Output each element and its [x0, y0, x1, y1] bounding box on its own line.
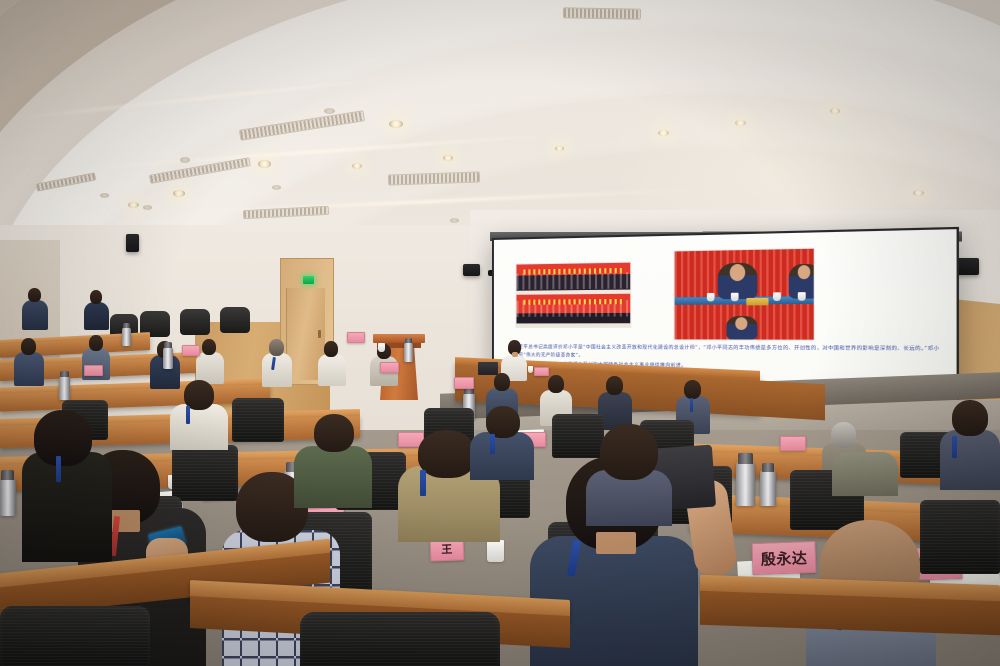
- exit-sign-icon: [303, 276, 314, 284]
- attendee-body: [262, 353, 292, 387]
- slide-speaker-face: [730, 264, 745, 281]
- thermos-cap: [164, 342, 172, 348]
- wall-speaker-center-icon: [463, 264, 480, 276]
- downlight: [389, 120, 403, 128]
- downlight: [352, 163, 362, 169]
- slide-cup-3: [773, 292, 781, 301]
- chair-foreground[interactable]: [300, 612, 500, 666]
- attendee-head: [269, 339, 284, 356]
- downlight: [258, 160, 271, 168]
- downlight: [735, 120, 746, 126]
- slide-photo-hall: [516, 262, 632, 328]
- attendee-head: [418, 430, 476, 478]
- attendee-head: [21, 338, 36, 355]
- conference-hall-photograph: 习近平总书记高度评价邓小平是“中国社会主义改革开放和现代化建设的总设计师”，“邓…: [0, 0, 1000, 666]
- lanyard: [56, 456, 61, 482]
- lanyard: [690, 398, 693, 412]
- chair[interactable]: [172, 445, 238, 501]
- name-placard: [182, 345, 200, 356]
- attendee-body: [14, 352, 44, 386]
- attendee-body: [318, 354, 346, 386]
- thermos: [59, 376, 70, 400]
- downlight: [443, 155, 453, 161]
- thermos: [736, 462, 755, 506]
- downlight-dim: [272, 185, 281, 190]
- slide-speaker-right-face: [798, 265, 811, 279]
- thermos: [163, 347, 173, 369]
- wall-speaker-right-icon: [956, 258, 979, 275]
- downlight-dim: [143, 205, 152, 210]
- name-placard: [380, 362, 399, 373]
- attendee-neck: [596, 532, 636, 554]
- downlight: [173, 190, 185, 197]
- downlight-dim: [100, 193, 109, 198]
- attendee-body: [940, 430, 1000, 490]
- wall-speaker-left-icon: [126, 234, 139, 252]
- chair[interactable]: [552, 414, 604, 458]
- thermos-cap: [1, 470, 14, 480]
- paper-cup: [378, 343, 385, 352]
- slide-photo-meeting: [674, 248, 815, 341]
- name-placard: [347, 332, 365, 343]
- downlight: [913, 190, 924, 196]
- door-handle[interactable]: [318, 330, 321, 338]
- presenter-laptop: [478, 362, 498, 375]
- downlight: [128, 202, 139, 208]
- attendee-head: [684, 380, 701, 399]
- thermos-cap: [738, 453, 753, 464]
- downlight: [555, 146, 564, 151]
- attendee-body: [22, 452, 112, 562]
- lanyard: [490, 434, 495, 454]
- chair-back[interactable]: [180, 309, 210, 335]
- chair[interactable]: [920, 500, 1000, 574]
- thermos: [404, 342, 413, 362]
- presenter-cup: [528, 366, 533, 373]
- attendee-head: [494, 373, 510, 391]
- attendee-head: [952, 400, 988, 436]
- lanyard: [952, 436, 957, 458]
- thermos: [760, 470, 776, 506]
- name-placard: [780, 436, 806, 451]
- attendee-head: [314, 414, 354, 452]
- downlight-dim: [180, 157, 190, 163]
- attendee-head: [34, 410, 92, 466]
- name-placard-yin-yongda: 殷永达: [751, 541, 816, 575]
- chair[interactable]: [232, 398, 284, 442]
- attendee-body: [84, 302, 109, 330]
- slide-cup-4: [798, 292, 806, 301]
- attendee-body: [294, 446, 372, 508]
- presenter-neck: [512, 352, 518, 357]
- slide-text-line1: 习近平总书记高度评价邓小平是“中国社会主义改革开放和现代化建设的总设计师”，“邓…: [514, 345, 940, 359]
- lanyard: [420, 470, 426, 496]
- attendee-head: [28, 288, 41, 302]
- name-placard: [454, 377, 474, 389]
- thermos: [122, 327, 131, 346]
- thermos-cap: [405, 338, 412, 343]
- thermos-cap: [123, 323, 130, 328]
- attendee-head: [89, 335, 103, 351]
- hall-banner-2: [523, 299, 623, 305]
- attendee-head: [202, 339, 216, 355]
- attendee-head: [606, 376, 623, 395]
- attendee-body: [470, 432, 534, 480]
- thermos: [0, 478, 16, 516]
- air-vent-6: [563, 7, 641, 19]
- attendee-head: [548, 375, 564, 393]
- attendee-body: [170, 404, 228, 450]
- paper-cup: [487, 540, 504, 562]
- lanyard: [186, 406, 190, 424]
- downlight: [658, 130, 669, 136]
- attendee-head: [600, 424, 658, 480]
- name-placard: [84, 365, 103, 376]
- attendee-head: [90, 290, 102, 304]
- chair-foreground[interactable]: [0, 606, 150, 666]
- thermos-cap: [60, 371, 69, 377]
- downlight-dim: [324, 108, 335, 114]
- chair-back[interactable]: [220, 307, 250, 333]
- attendee-head: [324, 341, 338, 357]
- slide-nameplate: [746, 298, 768, 306]
- slide-cup-1: [707, 293, 715, 302]
- thermos-cap: [762, 463, 774, 472]
- lectern-top: [373, 334, 425, 343]
- downlight-dim: [450, 218, 459, 223]
- attendee-head-grey: [831, 422, 856, 448]
- slide-speaker-lower-face: [735, 317, 747, 330]
- downlight: [830, 108, 840, 114]
- attendee-body: [832, 452, 898, 496]
- presenter-placard: [534, 367, 549, 376]
- attendee-body: [22, 300, 48, 330]
- slide-cup-2: [731, 293, 739, 302]
